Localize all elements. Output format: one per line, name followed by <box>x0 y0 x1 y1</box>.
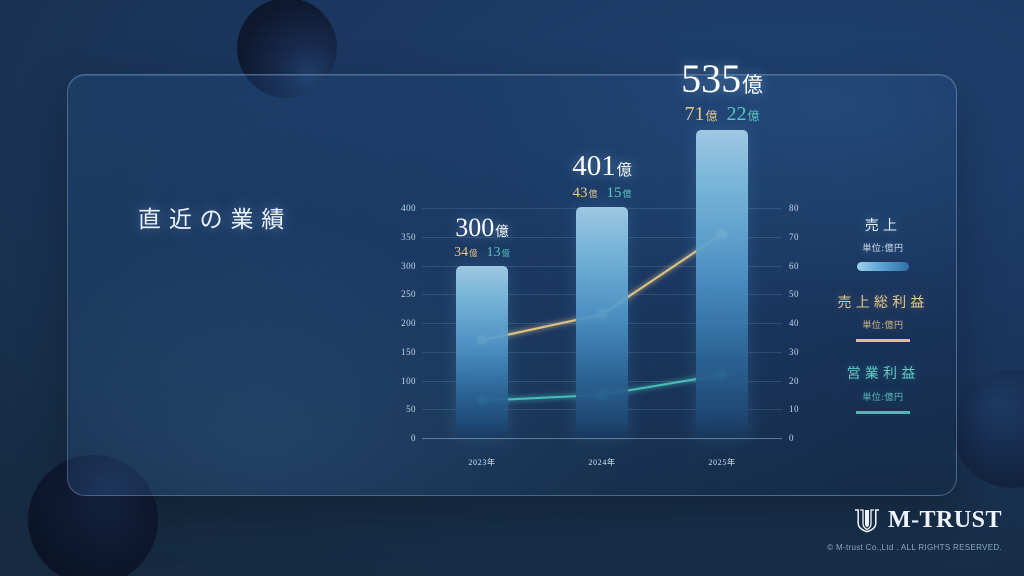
bar-value-profits: 34億13億 <box>454 246 510 260</box>
y-axis-tick-right: 30 <box>789 347 799 357</box>
legend-swatch-operating-profit-icon <box>856 411 910 414</box>
page-title: 直近の業績 <box>138 200 292 234</box>
bar-value-label: 535億71億22億 <box>681 59 763 124</box>
chart-gridline <box>422 438 782 439</box>
y-axis-tick-left: 250 <box>401 289 416 299</box>
legend-unit-gross-profit: 単位:億円 <box>818 318 948 331</box>
y-axis-tick-left: 300 <box>401 261 416 271</box>
y-axis-tick-right: 70 <box>789 232 799 242</box>
y-axis-tick-left: 100 <box>401 376 416 386</box>
legend-label-operating-profit: 営業利益 <box>818 366 948 384</box>
y-axis-tick-left: 50 <box>406 404 416 414</box>
performance-chart: 0501001502002503003504000102030405060708… <box>392 120 812 500</box>
brand-logo: M-TRUST <box>854 507 1002 534</box>
bar-value-gross-profit: 34億 <box>454 245 477 260</box>
bar-value-operating-profit: 13億 <box>487 245 510 260</box>
bar-value-operating-profit: 15億 <box>606 185 631 201</box>
chart-plot-area: 0501001502002503003504000102030405060708… <box>422 208 782 438</box>
bar-value-gross-profit: 43億 <box>572 185 597 201</box>
y-axis-tick-left: 200 <box>401 318 416 328</box>
y-axis-tick-right: 60 <box>789 261 799 271</box>
y-axis-tick-right: 80 <box>789 203 799 213</box>
legend-swatch-sales-icon <box>857 262 909 271</box>
x-axis-label: 2024年 <box>588 457 615 468</box>
brand-name: M-TRUST <box>888 507 1002 534</box>
chart-bar[interactable] <box>576 207 628 438</box>
legend-unit-operating-profit: 単位:億円 <box>818 390 948 403</box>
y-axis-tick-right: 40 <box>789 318 799 328</box>
y-axis-tick-right: 10 <box>789 404 799 414</box>
legend-label-sales: 売上 <box>818 218 948 236</box>
bar-value-sales: 401億 <box>572 152 632 181</box>
legend-item-sales[interactable]: 売上 単位:億円 <box>818 218 948 271</box>
decorative-sphere-bottom-right <box>953 370 1024 488</box>
bar-value-operating-profit: 22億 <box>726 103 759 125</box>
y-axis-tick-left: 350 <box>401 232 416 242</box>
y-axis-tick-right: 50 <box>789 289 799 299</box>
y-axis-tick-right: 0 <box>789 433 794 443</box>
bar-value-label: 401億43億15億 <box>572 152 632 201</box>
bar-value-sales: 535億 <box>681 59 763 99</box>
bar-value-profits: 43億15億 <box>572 186 632 201</box>
legend-item-gross-profit[interactable]: 売上総利益 単位:億円 <box>818 295 948 342</box>
y-axis-tick-left: 0 <box>411 433 416 443</box>
chart-bar[interactable] <box>456 266 508 439</box>
legend-label-gross-profit: 売上総利益 <box>818 295 948 313</box>
legend-item-operating-profit[interactable]: 営業利益 単位:億円 <box>818 366 948 413</box>
bar-value-gross-profit: 71億 <box>684 103 717 125</box>
y-axis-tick-left: 150 <box>401 347 416 357</box>
bar-value-label: 300億34億13億 <box>454 215 510 260</box>
chart-bar[interactable] <box>696 130 748 438</box>
legend-unit-sales: 単位:億円 <box>818 241 948 254</box>
x-axis-label: 2023年 <box>468 457 495 468</box>
m-trust-mark-icon <box>854 509 880 533</box>
x-axis-label: 2025年 <box>708 457 735 468</box>
chart-legend: 売上 単位:億円 売上総利益 単位:億円 営業利益 単位:億円 <box>818 218 948 438</box>
y-axis-tick-right: 20 <box>789 376 799 386</box>
copyright-text: © M-trust Co.,Ltd . ALL RIGHTS RESERVED. <box>827 543 1002 552</box>
y-axis-tick-left: 400 <box>401 203 416 213</box>
bar-value-profits: 71億22億 <box>681 104 763 124</box>
bar-value-sales: 300億 <box>454 215 510 241</box>
legend-swatch-gross-profit-icon <box>856 339 910 342</box>
slide-background: 直近の業績 0501001502002503003504000102030405… <box>0 0 1024 576</box>
